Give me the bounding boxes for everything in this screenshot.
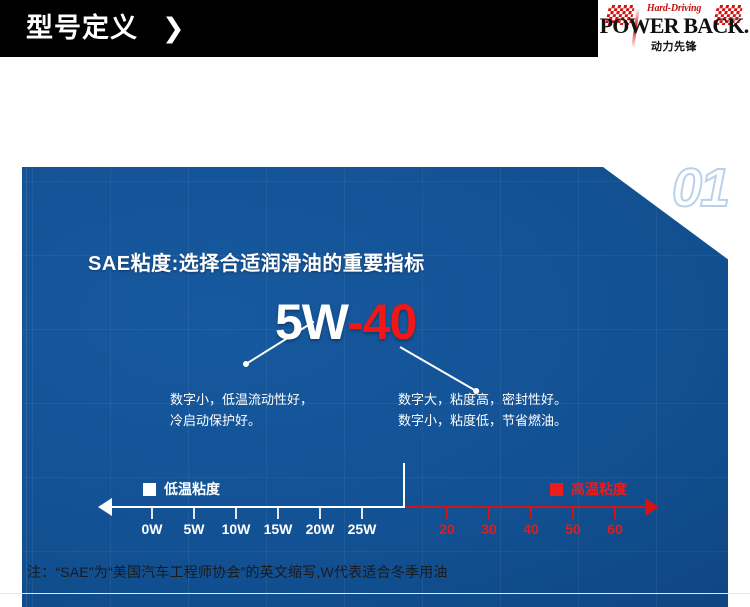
content-stage: 01 SAE粘度:选择合适润滑油的重要指标 5W-40 数字小，低温流动性好， … [0, 57, 750, 600]
info-panel [22, 167, 728, 607]
legend-cold-viscosity: 低温粘度 [143, 479, 220, 499]
legend-label-cold: 低温粘度 [164, 479, 220, 499]
callout-cold-line1: 数字小，低温流动性好， [170, 389, 313, 410]
callout-cold-line2: 冷启动保护好。 [170, 410, 313, 431]
page-title: 型号定义 [26, 9, 138, 47]
callout-cold: 数字小，低温流动性好， 冷启动保护好。 [170, 389, 313, 431]
callout-hot-line2: 数字小，粘度低，节省燃油。 [398, 410, 567, 431]
footer-divider [0, 593, 750, 594]
legend-swatch-hot-icon [550, 483, 563, 496]
callout-hot-line1: 数字大，粘度高，密封性好。 [398, 389, 567, 410]
legend-hot-viscosity: 高温粘度 [550, 479, 627, 499]
brand-logo: Hard-Driving POWER BACK. 动力先锋 [598, 0, 750, 57]
brand-name: POWER BACK. [598, 14, 750, 38]
legend-swatch-cold-icon [143, 483, 156, 496]
legend-label-hot: 高温粘度 [571, 479, 627, 499]
grade-display: 5W-40 [275, 295, 416, 349]
panel-left-edge [26, 167, 27, 607]
chevron-right-icon: ❯ [162, 12, 185, 45]
watermark-number: 01 [672, 161, 728, 215]
grade-hot-part: -40 [347, 294, 416, 350]
footer-note: 注：“SAE”为“美国汽车工程师协会”的英文缩写,W代表适合冬季用油 [27, 562, 448, 582]
section-title: SAE粘度:选择合适润滑油的重要指标 [88, 247, 425, 276]
brand-chinese-name: 动力先锋 [598, 38, 750, 54]
callout-hot: 数字大，粘度高，密封性好。 数字小，粘度低，节省燃油。 [398, 389, 567, 431]
